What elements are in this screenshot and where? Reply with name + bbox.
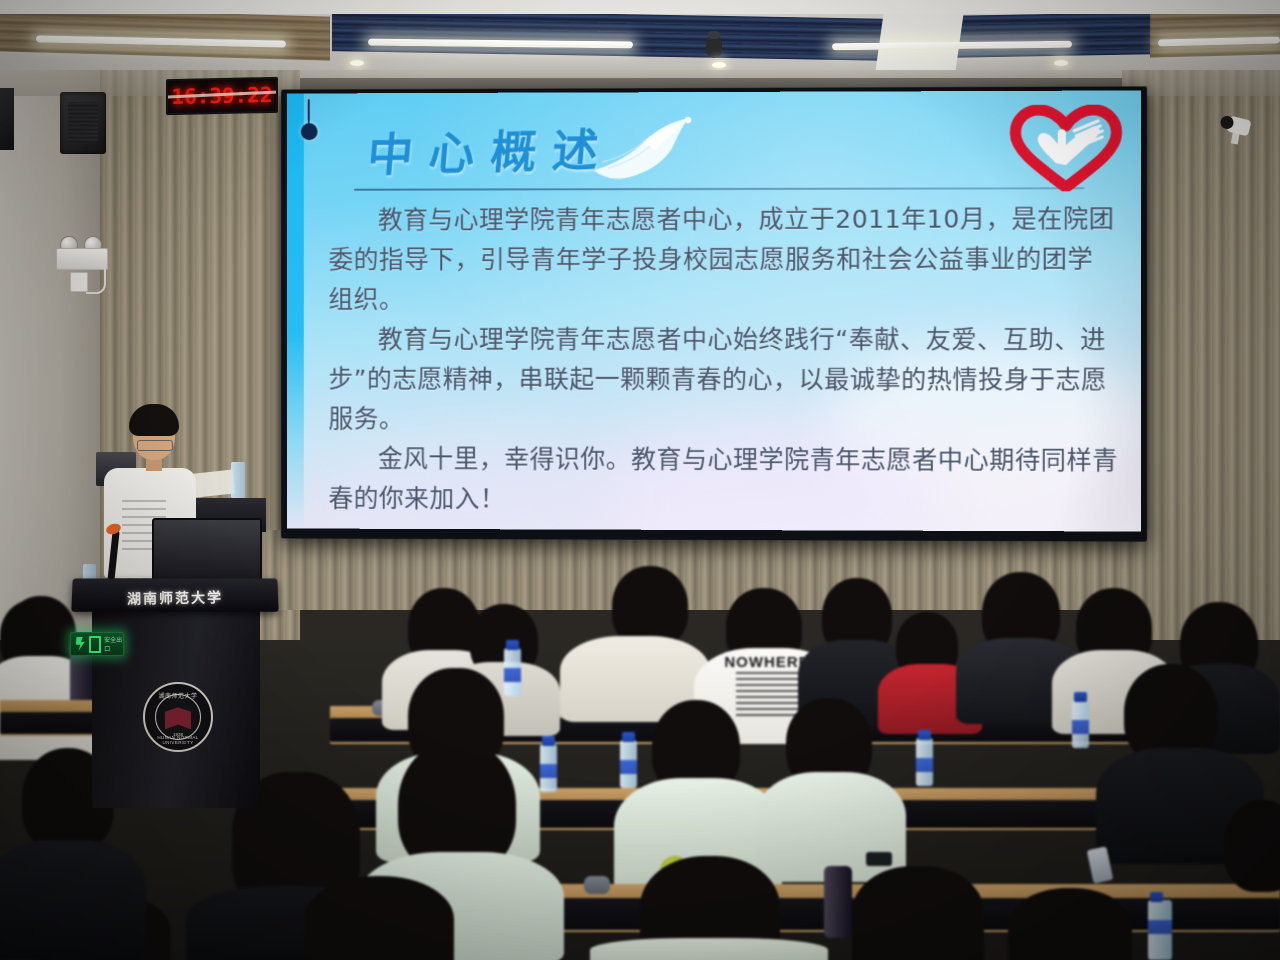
downlight-1 <box>350 60 364 66</box>
audience-head-foreground <box>852 866 984 960</box>
ceiling-beam <box>876 8 965 70</box>
ceiling-dark-panel-left <box>332 9 892 61</box>
running-person-icon <box>74 637 87 651</box>
seal-chinese-name: 湖南师范大学 <box>145 691 211 700</box>
downlight-3 <box>1054 60 1068 66</box>
audience-body-left <box>0 840 146 960</box>
bottle-cap <box>918 730 931 740</box>
slide-body: 教育与心理学院青年志愿者中心，成立于2011年10月，是在院团委的指导下，引导青… <box>328 199 1118 521</box>
bottle-label <box>1148 920 1172 934</box>
water-bottle <box>504 648 521 696</box>
smartphone-dark <box>866 852 892 866</box>
seal-english-name: HUNAN NORMAL UNIVERSITY <box>145 735 211 745</box>
audience-head-foreground <box>1008 888 1132 960</box>
university-seal: 湖南师范大学 1938 HUNAN NORMAL UNIVERSITY <box>143 682 213 752</box>
wall-socket-plate <box>70 272 88 292</box>
dove-icon <box>584 112 704 182</box>
audience-body <box>590 938 828 960</box>
podium-label: 湖南师范大学 <box>100 587 250 610</box>
presenter-glasses-icon <box>137 440 173 451</box>
bottle-label <box>1072 720 1089 734</box>
slide-paragraph-2: 教育与心理学院青年志愿者中心始终践行“奉献、友爱、互助、进步”的志愿精神，串联起… <box>328 320 1118 441</box>
bottle-label <box>916 758 933 772</box>
bottle-cap <box>506 640 519 650</box>
bottle-label <box>504 668 521 682</box>
wall-speaker-corner <box>0 88 14 150</box>
ceiling-wood-slats-left <box>0 7 330 60</box>
volunteer-heart-hand-logo <box>1009 105 1122 192</box>
water-bottle-podium <box>231 462 245 498</box>
exit-sign: 安全出口 <box>70 632 124 656</box>
bottle-label <box>620 760 637 774</box>
door-icon <box>89 636 102 653</box>
presenter-hair <box>129 404 179 436</box>
downlight-2 <box>712 62 726 68</box>
water-bottle <box>540 744 557 792</box>
projector-screen: 中心概述 教育与心理学院青年志愿者中心，成立于2011年10月，是在院团委的指导… <box>287 90 1141 531</box>
ceiling-dark-panel-right <box>952 12 1152 57</box>
ceiling-camera-icon <box>706 36 722 58</box>
water-bottle <box>916 738 933 786</box>
emergency-light-wire <box>86 266 106 294</box>
bottle-cap <box>542 736 555 746</box>
lecture-hall-scene: 16:39:22 中心概述 教育与心理学院青年志愿 <box>0 0 1280 960</box>
slide-paragraph-1: 教育与心理学院青年志愿者中心，成立于2011年10月，是在院团委的指导下，引导青… <box>328 199 1118 320</box>
water-bottle <box>1072 700 1089 748</box>
water-bottle <box>1148 900 1172 960</box>
tshirt-graphic <box>736 672 798 716</box>
ceiling <box>0 0 1280 78</box>
water-bottle <box>620 740 637 788</box>
ceiling-wood-slats-right <box>1150 10 1280 57</box>
exit-sign-label: 安全出口 <box>104 635 123 653</box>
ceiling-top-edge <box>0 0 1280 14</box>
slide-paragraph-3: 金风十里，幸得识你。教育与心理学院青年志愿者中心期待同样青春的你来加入！ <box>328 439 1118 521</box>
bottle-label <box>540 764 557 778</box>
thermos-bottle <box>824 866 852 938</box>
seat-pad-f <box>584 876 610 894</box>
audience-head-foreground <box>304 876 454 960</box>
audience-head <box>1224 800 1280 892</box>
bottle-cap <box>1074 692 1087 702</box>
slide-bullet-dot <box>301 123 318 140</box>
slide-title: 中心概述 <box>365 114 617 186</box>
bottle-cap <box>622 732 635 742</box>
slide-bullet-stem <box>308 99 310 125</box>
slide-accent-bar <box>287 93 304 528</box>
led-clock: 16:39:22 <box>166 77 278 115</box>
bottle-cap <box>1150 892 1163 902</box>
wall-speaker <box>60 92 106 154</box>
